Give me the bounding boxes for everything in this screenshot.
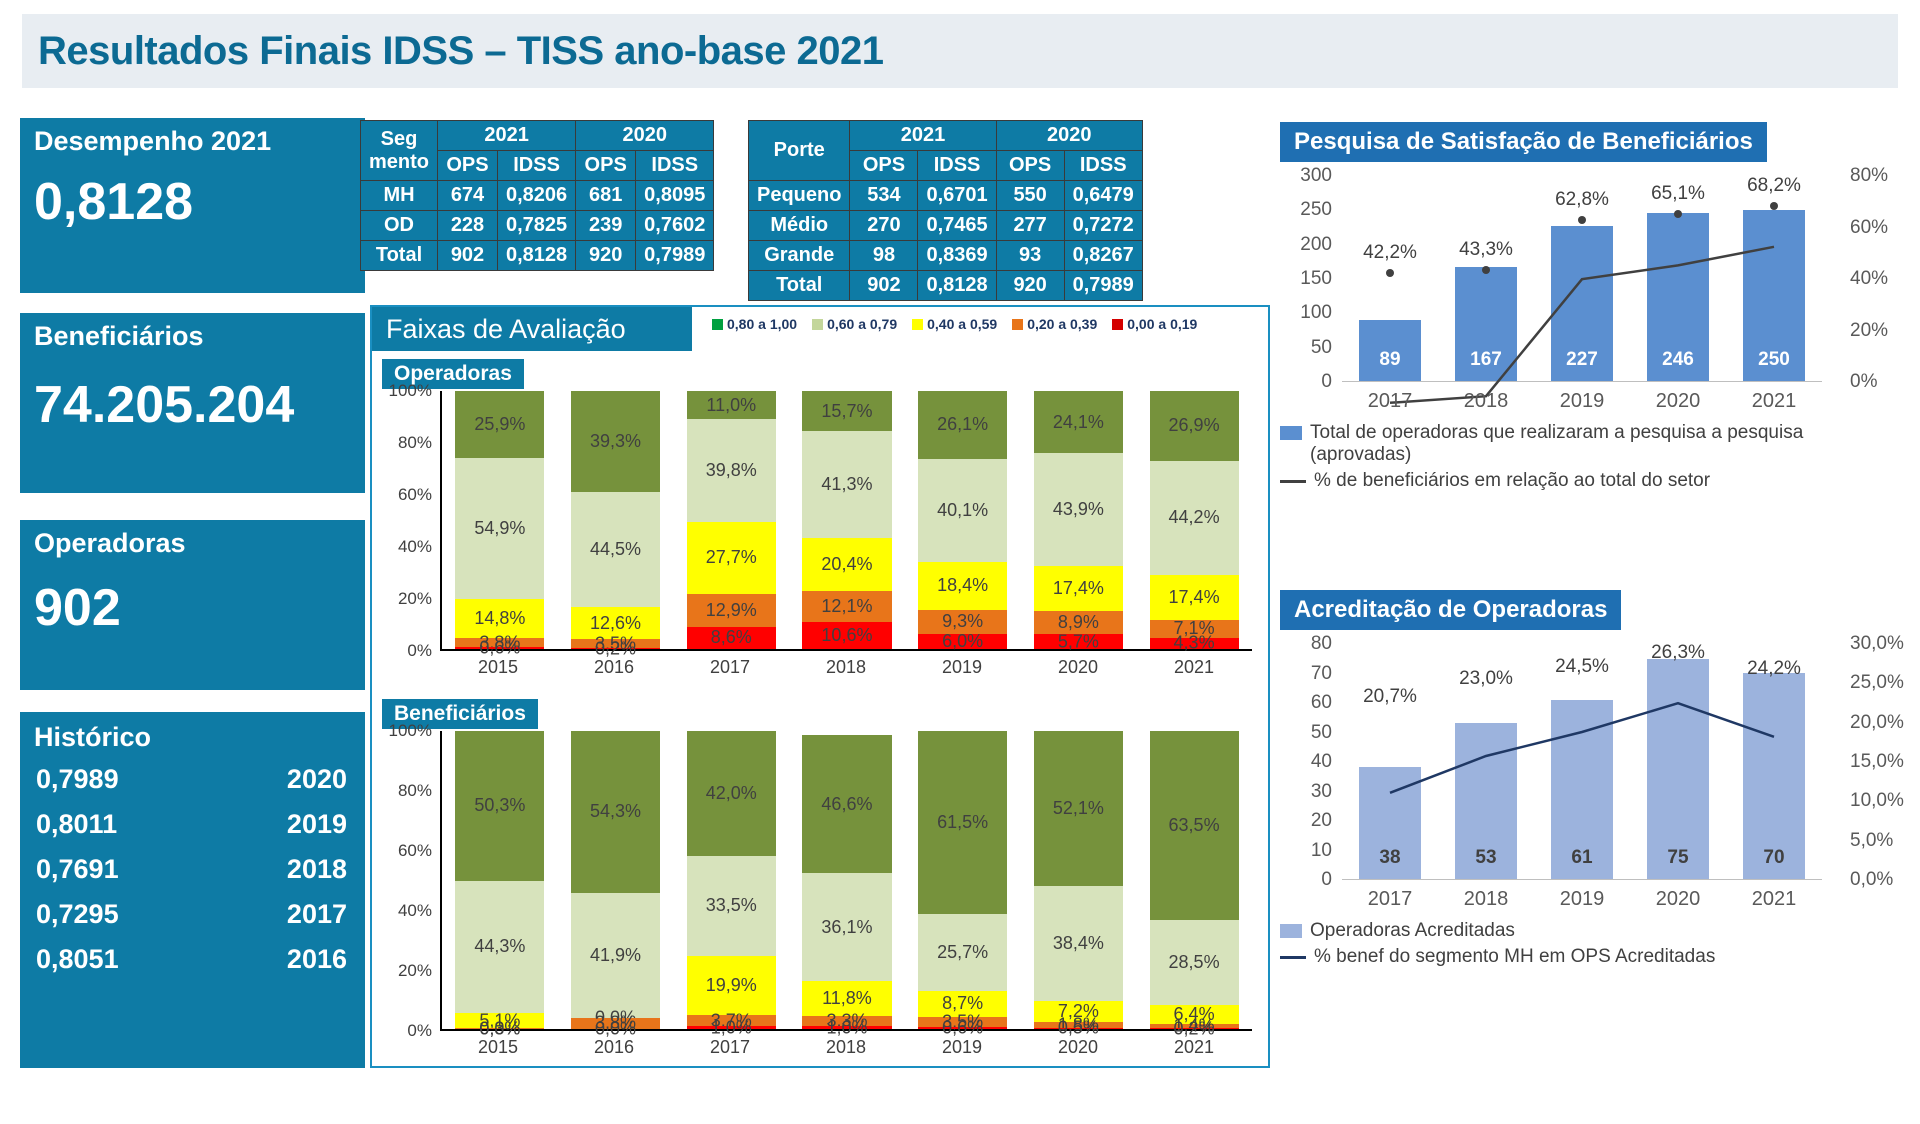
table-cell: 0,7602 <box>636 211 714 241</box>
legend-item: 0,80 a 1,00 <box>712 316 797 332</box>
kpi-value: 74.205.204 <box>34 378 351 433</box>
historico-value: 0,7989 <box>36 764 119 795</box>
y-tick-label: 20% <box>1850 320 1888 342</box>
bar-segment: 15,7% <box>802 391 891 431</box>
table-cell: 0,7989 <box>1064 271 1142 301</box>
y-tick-label: 100 <box>1300 302 1332 324</box>
y-tick-label: 20% <box>398 961 432 981</box>
bar-segment: 54,9% <box>455 458 544 600</box>
stacked-bar: 26,9%44,2%17,4%7,1%4,3% <box>1150 391 1239 649</box>
kpi-card-historico: Histórico 0,798920200,801120190,76912018… <box>20 712 365 1068</box>
bar-segment: 44,5% <box>571 492 660 607</box>
x-tick-label: 2017 <box>685 657 774 678</box>
table-year-header: 2020 <box>576 121 714 151</box>
table-cell: 0,6479 <box>1064 181 1142 211</box>
historico-year: 2018 <box>287 854 347 885</box>
table-year-header: 2020 <box>996 121 1142 151</box>
table-header-row: Segmento20212020 <box>361 121 714 151</box>
bar-segment: 0,6% <box>918 1027 1007 1029</box>
x-axis: 2015201620172018201920202021 <box>440 653 1252 681</box>
bar-segment-label: 40,1% <box>937 500 988 521</box>
stacked-bar: 11,0%39,8%27,7%12,9%8,6% <box>687 391 776 649</box>
x-tick-label: 2018 <box>801 1037 890 1058</box>
table-sub-header: OPS <box>576 151 636 181</box>
bar-segment: 63,5% <box>1150 731 1239 920</box>
x-tick-label: 2019 <box>1551 390 1613 413</box>
bar-segment-label: 11,8% <box>822 988 872 1009</box>
line-value-label: 26,3% <box>1651 642 1705 664</box>
line-value-label: 23,0% <box>1459 668 1513 690</box>
table-row-label: MH <box>361 181 438 211</box>
legend-item: 0,00 a 0,19 <box>1112 316 1197 332</box>
x-tick-label: 2019 <box>1551 888 1613 911</box>
bar-segment: 42,0% <box>687 731 776 856</box>
title-band: Resultados Finais IDSS – TISS ano-base 2… <box>22 14 1898 88</box>
line-marker <box>1386 269 1394 277</box>
line-value-label: 65,1% <box>1651 183 1705 205</box>
legend-swatch-icon <box>1280 426 1302 440</box>
y-axis: 0%20%40%60%80%100% <box>380 731 436 1031</box>
bar-segment-label: 17,4% <box>1169 587 1220 608</box>
plot-area: 25,9%54,9%14,8%3,8%0,6%39,3%44,5%12,6%3,… <box>440 391 1252 651</box>
line-marker <box>1674 210 1682 218</box>
bar-segment-label: 36,1% <box>821 917 872 938</box>
historico-row: 0,80512016 <box>34 937 351 982</box>
table-cell: 902 <box>438 241 498 271</box>
y-tick-label: 20% <box>398 589 432 609</box>
legend-line-icon <box>1280 480 1306 483</box>
table-sub-header: IDSS <box>1064 151 1142 181</box>
legend-label: 0,00 a 0,19 <box>1127 316 1197 332</box>
bar-segment: 52,1% <box>1034 731 1123 886</box>
x-tick-label: 2020 <box>1033 1037 1122 1058</box>
bar-segment-label: 27,7% <box>706 547 757 568</box>
table-cell: 0,8095 <box>636 181 714 211</box>
faixas-legend: 0,80 a 1,000,60 a 0,790,40 a 0,590,20 a … <box>712 316 1197 332</box>
table-cell: 0,8369 <box>918 241 996 271</box>
table-cell: 920 <box>996 271 1064 301</box>
bar-segment-label: 26,9% <box>1169 415 1220 436</box>
bar-segment: 44,3% <box>455 881 544 1013</box>
x-axis: 20172018201920202021 <box>1342 386 1822 416</box>
bar-segment-label: 19,9% <box>706 975 757 996</box>
table-row-label: Total <box>361 241 438 271</box>
y-tick-label: 30 <box>1311 781 1332 803</box>
line-value-label: 24,2% <box>1747 659 1801 681</box>
legend-swatch-icon <box>1280 924 1302 938</box>
y-tick-label: 100% <box>389 381 432 401</box>
table-row-label: Pequeno <box>749 181 850 211</box>
table-sub-header: IDSS <box>498 151 576 181</box>
stacked-bar: 26,1%40,1%18,4%9,3%6,0% <box>918 391 1007 649</box>
bar-segment: 10,6% <box>802 622 891 649</box>
bar-segment: 36,1% <box>802 873 891 981</box>
y-tick-label: 70 <box>1311 663 1332 685</box>
bar-segment: 28,5% <box>1150 920 1239 1005</box>
line-value-label: 43,3% <box>1459 239 1513 261</box>
acreditacao-title: Acreditação de Operadoras <box>1280 590 1621 630</box>
bar-segment-label: 44,2% <box>1169 507 1220 528</box>
kpi-card-beneficiarios: Beneficiários 74.205.204 <box>20 313 365 493</box>
y-axis: 0%20%40%60%80%100% <box>380 391 436 651</box>
acreditacao-plot: 010203040506070800,0%5,0%10,0%15,0%20,0%… <box>1280 644 1900 914</box>
y-tick-label: 150 <box>1300 268 1332 290</box>
table-cell: 0,7465 <box>918 211 996 241</box>
table-year-header: 2021 <box>438 121 576 151</box>
table-cell: 0,7825 <box>498 211 576 241</box>
legend-swatch-icon <box>712 319 723 330</box>
x-tick-label: 2016 <box>569 657 658 678</box>
y-tick-label: 50 <box>1311 722 1332 744</box>
stacked-bar: 25,9%54,9%14,8%3,8%0,6% <box>455 391 544 649</box>
table-sub-header: OPS <box>850 151 918 181</box>
kpi-label: Histórico <box>34 722 351 753</box>
bar-segment-label: 6,0% <box>942 631 983 652</box>
bar-segment: 18,4% <box>918 562 1007 609</box>
y-tick-label: 80 <box>1311 633 1332 655</box>
bar-segment: 8,6% <box>687 627 776 649</box>
bar-segment-label: 24,1% <box>1053 412 1104 433</box>
y-tick-label: 40% <box>1850 268 1888 290</box>
table-sub-header: OPS <box>996 151 1064 181</box>
bar-segment: 41,3% <box>802 431 891 537</box>
bar-segment-label: 39,3% <box>590 431 641 452</box>
bar-segment-label: 28,5% <box>1169 952 1220 973</box>
bar-segment-label: 33,5% <box>706 895 757 916</box>
table-row-label: OD <box>361 211 438 241</box>
y-tick-label: 80% <box>1850 165 1888 187</box>
table-sub-header: IDSS <box>918 151 996 181</box>
x-axis: 2015201620172018201920202021 <box>440 1033 1252 1061</box>
bar-segment-label: 39,8% <box>706 460 757 481</box>
bar-segment: 1,0% <box>802 1026 891 1029</box>
x-tick-label: 2021 <box>1149 1037 1238 1058</box>
table-cell: 674 <box>438 181 498 211</box>
bar-segment: 12,9% <box>687 594 776 627</box>
stacked-bar: 61,5%25,7%8,7%3,5%0,6% <box>918 731 1007 1029</box>
y-tick-label: 100% <box>389 721 432 741</box>
bar-segment-label: 25,9% <box>474 414 525 435</box>
stacked-bar: 54,3%41,9%0,0%3,8%0,0% <box>571 731 660 1029</box>
y-tick-label: 250 <box>1300 199 1332 221</box>
stacked-bar: 46,6%36,1%11,8%3,3%1,0% <box>802 731 891 1029</box>
faixas-de-avaliacao-panel: Faixas de Avaliação 0,80 a 1,000,60 a 0,… <box>370 305 1270 1068</box>
x-tick-label: 2018 <box>801 657 890 678</box>
table-year-header: 2021 <box>850 121 996 151</box>
bar-segment: 26,1% <box>918 391 1007 458</box>
y-tick-label: 20,0% <box>1850 712 1904 734</box>
x-tick-label: 2021 <box>1743 888 1805 911</box>
x-tick-label: 2018 <box>1455 390 1517 413</box>
bar-segment: 17,4% <box>1034 566 1123 611</box>
y-tick-label: 80% <box>398 781 432 801</box>
bar-segment-label: 41,3% <box>821 474 872 495</box>
table-row: Grande980,8369930,8267 <box>749 241 1143 271</box>
bar-segment: 33,5% <box>687 856 776 956</box>
legend-swatch-icon <box>912 319 923 330</box>
y-tick-label: 0% <box>407 641 432 661</box>
bars-container: 25,9%54,9%14,8%3,8%0,6%39,3%44,5%12,6%3,… <box>442 391 1252 649</box>
y-tick-label: 0 <box>1321 869 1332 891</box>
x-tick-label: 2017 <box>1359 888 1421 911</box>
x-tick-label: 2019 <box>917 657 1006 678</box>
chart-beneficiarios-stacked: 0%20%40%60%80%100%50,3%44,3%5,1%0,3%0,0%… <box>380 731 1260 1061</box>
table-cell: 550 <box>996 181 1064 211</box>
historico-value: 0,8011 <box>36 809 117 840</box>
legend-item: 0,60 a 0,79 <box>812 316 897 332</box>
x-tick-label: 2020 <box>1647 390 1709 413</box>
bar-segment: 26,9% <box>1150 391 1239 460</box>
kpi-label: Operadoras <box>34 528 351 559</box>
table-cell: 0,8128 <box>498 241 576 271</box>
plot-area: 385361757020,7%23,0%24,5%26,3%24,2% <box>1342 644 1822 880</box>
table-cell: 0,7989 <box>636 241 714 271</box>
legend-item: 0,40 a 0,59 <box>912 316 997 332</box>
y-tick-label: 10,0% <box>1850 790 1904 812</box>
line-value-label: 24,5% <box>1555 656 1609 678</box>
historico-row: 0,72952017 <box>34 892 351 937</box>
table-row: Pequeno5340,67015500,6479 <box>749 181 1143 211</box>
bar-segment-label: 46,6% <box>821 794 872 815</box>
chart-operadoras-stacked: 0%20%40%60%80%100%25,9%54,9%14,8%3,8%0,6… <box>380 391 1260 681</box>
bar-segment: 19,9% <box>687 956 776 1015</box>
stacked-bar: 39,3%44,5%12,6%3,5%0,2% <box>571 391 660 649</box>
x-tick-label: 2020 <box>1647 888 1709 911</box>
stacked-bar: 42,0%33,5%19,9%3,7%1,0% <box>687 731 776 1029</box>
legend-item: 0,20 a 0,39 <box>1012 316 1097 332</box>
historico-value: 0,7295 <box>36 899 119 930</box>
bar-segment-label: 20,4% <box>821 554 872 575</box>
table-cell: 0,8206 <box>498 181 576 211</box>
y-tick-label: 200 <box>1300 234 1332 256</box>
y-tick-label: 60% <box>398 841 432 861</box>
table-cell: 277 <box>996 211 1064 241</box>
bar-segment-label: 5,7% <box>1058 631 1099 652</box>
bar-segment: 0,2% <box>1150 1028 1239 1029</box>
x-tick-label: 2019 <box>917 1037 1006 1058</box>
bar-segment: 41,9% <box>571 893 660 1018</box>
table-row-label: Médio <box>749 211 850 241</box>
y-tick-label: 0 <box>1321 371 1332 393</box>
y-tick-label: 80% <box>398 433 432 453</box>
bar-segment-label: 63,5% <box>1169 815 1220 836</box>
y-tick-label: 5,0% <box>1850 830 1893 852</box>
bar-segment-label: 15,7% <box>821 401 872 422</box>
bar-segment-label: 38,4% <box>1053 933 1104 954</box>
table-segmento: Segmento20212020OPSIDSSOPSIDSSMH6740,820… <box>360 120 714 271</box>
legend-label: 0,60 a 0,79 <box>827 316 897 332</box>
historico-year: 2016 <box>287 944 347 975</box>
bar-segment-label: 25,7% <box>937 942 988 963</box>
table-corner-header: Segmento <box>361 121 438 181</box>
table-cell: 93 <box>996 241 1064 271</box>
legend-swatch-icon <box>1112 319 1123 330</box>
bar-segment-label: 17,4% <box>1053 578 1104 599</box>
left-y-axis: 050100150200250300 <box>1280 176 1338 382</box>
x-tick-label: 2020 <box>1033 657 1122 678</box>
x-tick-label: 2017 <box>685 1037 774 1058</box>
y-tick-label: 60% <box>398 485 432 505</box>
panel-acreditacao-operadoras: Acreditação de Operadoras 01020304050607… <box>1280 590 1900 1060</box>
table-cell: 902 <box>850 271 918 301</box>
historico-year: 2020 <box>287 764 347 795</box>
y-tick-label: 40% <box>398 901 432 921</box>
table-cell: 0,8267 <box>1064 241 1142 271</box>
bar-segment-label: 41,9% <box>590 945 641 966</box>
panel-pesquisa-satisfacao: Pesquisa de Satisfação de Beneficiários … <box>1280 122 1900 552</box>
bar-segment-label: 43,9% <box>1053 499 1104 520</box>
x-tick-label: 2017 <box>1359 390 1421 413</box>
bar-segment-label: 61,5% <box>937 812 988 833</box>
bar-segment-label: 44,5% <box>590 539 641 560</box>
table-cell: 534 <box>850 181 918 211</box>
y-tick-label: 0,0% <box>1850 869 1893 891</box>
bar-segment-label: 10,6% <box>821 625 872 646</box>
bar-segment: 27,7% <box>687 522 776 593</box>
bar-segment: 40,1% <box>918 459 1007 562</box>
line-value-label: 62,8% <box>1555 189 1609 211</box>
bar-segment-label: 52,1% <box>1053 798 1104 819</box>
table-cell: 270 <box>850 211 918 241</box>
table-row-label: Grande <box>749 241 850 271</box>
table-cell: 0,8128 <box>918 271 996 301</box>
bar-segment-label: 18,4% <box>937 575 988 596</box>
right-y-axis: 0%20%40%60%80% <box>1842 176 1900 382</box>
kpi-card-operadoras: Operadoras 902 <box>20 520 365 690</box>
y-tick-label: 60 <box>1311 692 1332 714</box>
bar-segment: 50,3% <box>455 731 544 881</box>
table-sub-header: IDSS <box>636 151 714 181</box>
bar-segment-label: 12,6% <box>590 613 641 634</box>
bar-segment: 17,4% <box>1150 575 1239 620</box>
bar-segment-label: 26,1% <box>937 414 988 435</box>
historico-row: 0,76912018 <box>34 847 351 892</box>
legend-swatch-icon <box>812 319 823 330</box>
bar-segment-label: 9,3% <box>942 611 983 632</box>
y-tick-label: 50 <box>1311 337 1332 359</box>
y-tick-label: 300 <box>1300 165 1332 187</box>
legend-label: 0,80 a 1,00 <box>727 316 797 332</box>
bar-segment: 0,2% <box>571 648 660 649</box>
stacked-bar: 24,1%43,9%17,4%8,9%5,7% <box>1034 391 1123 649</box>
y-tick-label: 0% <box>1850 371 1877 393</box>
line-value-label: 42,2% <box>1363 242 1417 264</box>
bar-segment: 44,2% <box>1150 461 1239 575</box>
line-marker <box>1482 266 1490 274</box>
bar-segment: 0,5% <box>1034 1028 1123 1029</box>
pesquisa-plot: 0501001502002503000%20%40%60%80%89167227… <box>1280 176 1900 416</box>
y-tick-label: 15,0% <box>1850 751 1904 773</box>
stacked-bar: 52,1%38,4%7,2%1,8%0,5% <box>1034 731 1123 1029</box>
bar-segment-label: 11,0% <box>706 395 756 416</box>
plot-area: 50,3%44,3%5,1%0,3%0,0%54,3%41,9%0,0%3,8%… <box>440 731 1252 1031</box>
x-tick-label: 2016 <box>569 1037 658 1058</box>
bar-segment-label: 54,9% <box>474 518 525 539</box>
page-title: Resultados Finais IDSS – TISS ano-base 2… <box>22 29 883 74</box>
historico-year: 2019 <box>287 809 347 840</box>
table-cell: 920 <box>576 241 636 271</box>
x-tick-label: 2021 <box>1149 657 1238 678</box>
bar-segment: 43,9% <box>1034 453 1123 566</box>
line-marker <box>1770 202 1778 210</box>
bar-segment: 39,3% <box>571 391 660 492</box>
line-value-label: 20,7% <box>1363 686 1417 708</box>
bar-segment-label: 50,3% <box>474 795 525 816</box>
legend-swatch-icon <box>1012 319 1023 330</box>
historico-list: 0,798920200,801120190,769120180,72952017… <box>34 757 351 982</box>
y-tick-label: 20 <box>1311 810 1332 832</box>
x-tick-label: 2018 <box>1455 888 1517 911</box>
y-tick-label: 25,0% <box>1850 672 1904 694</box>
bar-segment: 39,8% <box>687 419 776 522</box>
bar-segment: 4,3% <box>1150 638 1239 649</box>
bar-segment: 20,4% <box>802 538 891 591</box>
table-porte: Porte20212020OPSIDSSOPSIDSSPequeno5340,6… <box>748 120 1143 301</box>
bar-segment: 1,0% <box>687 1026 776 1029</box>
kpi-card-desempenho: Desempenho 2021 0,8128 <box>20 118 365 293</box>
kpi-value: 0,8128 <box>34 175 351 230</box>
bar-segment-label: 14,8% <box>474 608 525 629</box>
bar-segment: 54,3% <box>571 731 660 893</box>
bar-segment: 38,4% <box>1034 886 1123 1000</box>
y-tick-label: 30,0% <box>1850 633 1904 655</box>
table-cell: 98 <box>850 241 918 271</box>
bar-segment: 12,1% <box>802 591 891 622</box>
x-tick-label: 2021 <box>1743 390 1805 413</box>
y-tick-label: 10 <box>1311 840 1332 862</box>
line-marker <box>1578 216 1586 224</box>
table-header-row: Porte20212020 <box>749 121 1143 151</box>
bar-segment-label: 12,9% <box>706 600 757 621</box>
kpi-label: Desempenho 2021 <box>34 126 351 157</box>
table-cell: 681 <box>576 181 636 211</box>
stacked-bar: 50,3%44,3%5,1%0,3%0,0% <box>455 731 544 1029</box>
bar-segment: 61,5% <box>918 731 1007 914</box>
pesquisa-title: Pesquisa de Satisfação de Beneficiários <box>1280 122 1767 162</box>
table-row: Médio2700,74652770,7272 <box>749 211 1143 241</box>
table-row: Total9020,81289200,7989 <box>361 241 714 271</box>
historico-value: 0,7691 <box>36 854 119 885</box>
table-corner-header: Porte <box>749 121 850 181</box>
bar-segment: 25,7% <box>918 914 1007 991</box>
table-sub-header: OPS <box>438 151 498 181</box>
stacked-bar: 63,5%28,5%6,4%1,4%0,2% <box>1150 731 1239 1029</box>
bar-segment-label: 12,1% <box>821 596 872 617</box>
bar-segment: 46,6% <box>802 735 891 874</box>
bar-segment-label: 4,3% <box>1174 633 1215 654</box>
y-tick-label: 0% <box>407 1021 432 1041</box>
legend-label: 0,20 a 0,39 <box>1027 316 1097 332</box>
right-y-axis: 0,0%5,0%10,0%15,0%20,0%25,0%30,0% <box>1842 644 1900 880</box>
bars-container: 50,3%44,3%5,1%0,3%0,0%54,3%41,9%0,0%3,8%… <box>442 731 1252 1029</box>
bar-segment-label: 8,6% <box>711 627 752 648</box>
bar-segment-label: 44,3% <box>474 936 525 957</box>
historico-year: 2017 <box>287 899 347 930</box>
x-tick-label: 2015 <box>453 1037 542 1058</box>
bar-segment: 0,6% <box>455 647 544 649</box>
table-cell: 228 <box>438 211 498 241</box>
faixas-panel-title: Faixas de Avaliação <box>372 307 692 351</box>
bar-segment: 5,7% <box>1034 634 1123 649</box>
legend-line-icon <box>1280 956 1306 959</box>
legend-label: 0,40 a 0,59 <box>927 316 997 332</box>
bar-segment: 24,1% <box>1034 391 1123 453</box>
bar-segment-label: 42,0% <box>706 783 757 804</box>
bar-segment-label: 54,3% <box>590 801 641 822</box>
stacked-bar: 15,7%41,3%20,4%12,1%10,6% <box>802 391 891 649</box>
line-value-label: 68,2% <box>1747 175 1801 197</box>
historico-value: 0,8051 <box>36 944 119 975</box>
